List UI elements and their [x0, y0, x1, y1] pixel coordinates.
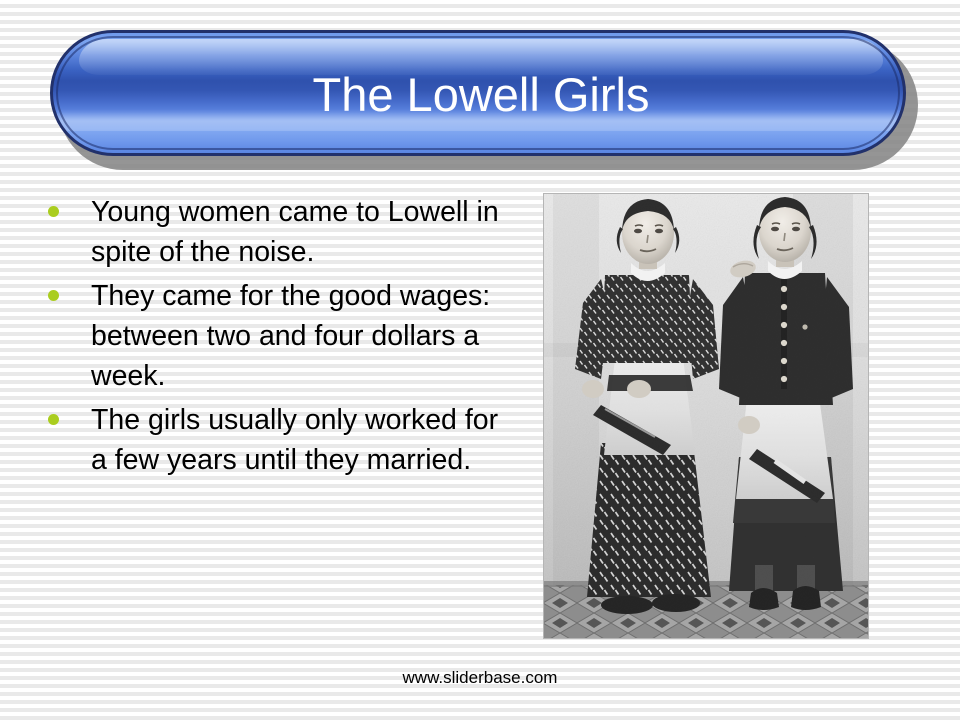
list-item: Young women came to Lowell in spite of t… — [48, 192, 518, 272]
bullet-dot-icon — [48, 290, 59, 301]
footer-watermark: www.sliderbase.com — [0, 668, 960, 688]
banner-body: The Lowell Girls — [50, 30, 906, 156]
bullet-dot-icon — [48, 206, 59, 217]
historical-photograph — [543, 193, 869, 639]
list-item-label: Young women came to Lowell in spite of t… — [91, 192, 518, 272]
list-item-label: The girls usually only worked for a few … — [91, 400, 518, 480]
photo-illustration — [543, 193, 869, 639]
list-item: They came for the good wages: between tw… — [48, 276, 518, 396]
title-banner: The Lowell Girls — [50, 30, 910, 162]
bullet-dot-icon — [48, 414, 59, 425]
list-item: The girls usually only worked for a few … — [48, 400, 518, 480]
slide-canvas: The Lowell Girls Young women came to Low… — [0, 0, 960, 720]
bullet-list: Young women came to Lowell in spite of t… — [48, 192, 518, 484]
page-title: The Lowell Girls — [53, 33, 906, 156]
list-item-label: They came for the good wages: between tw… — [91, 276, 518, 396]
